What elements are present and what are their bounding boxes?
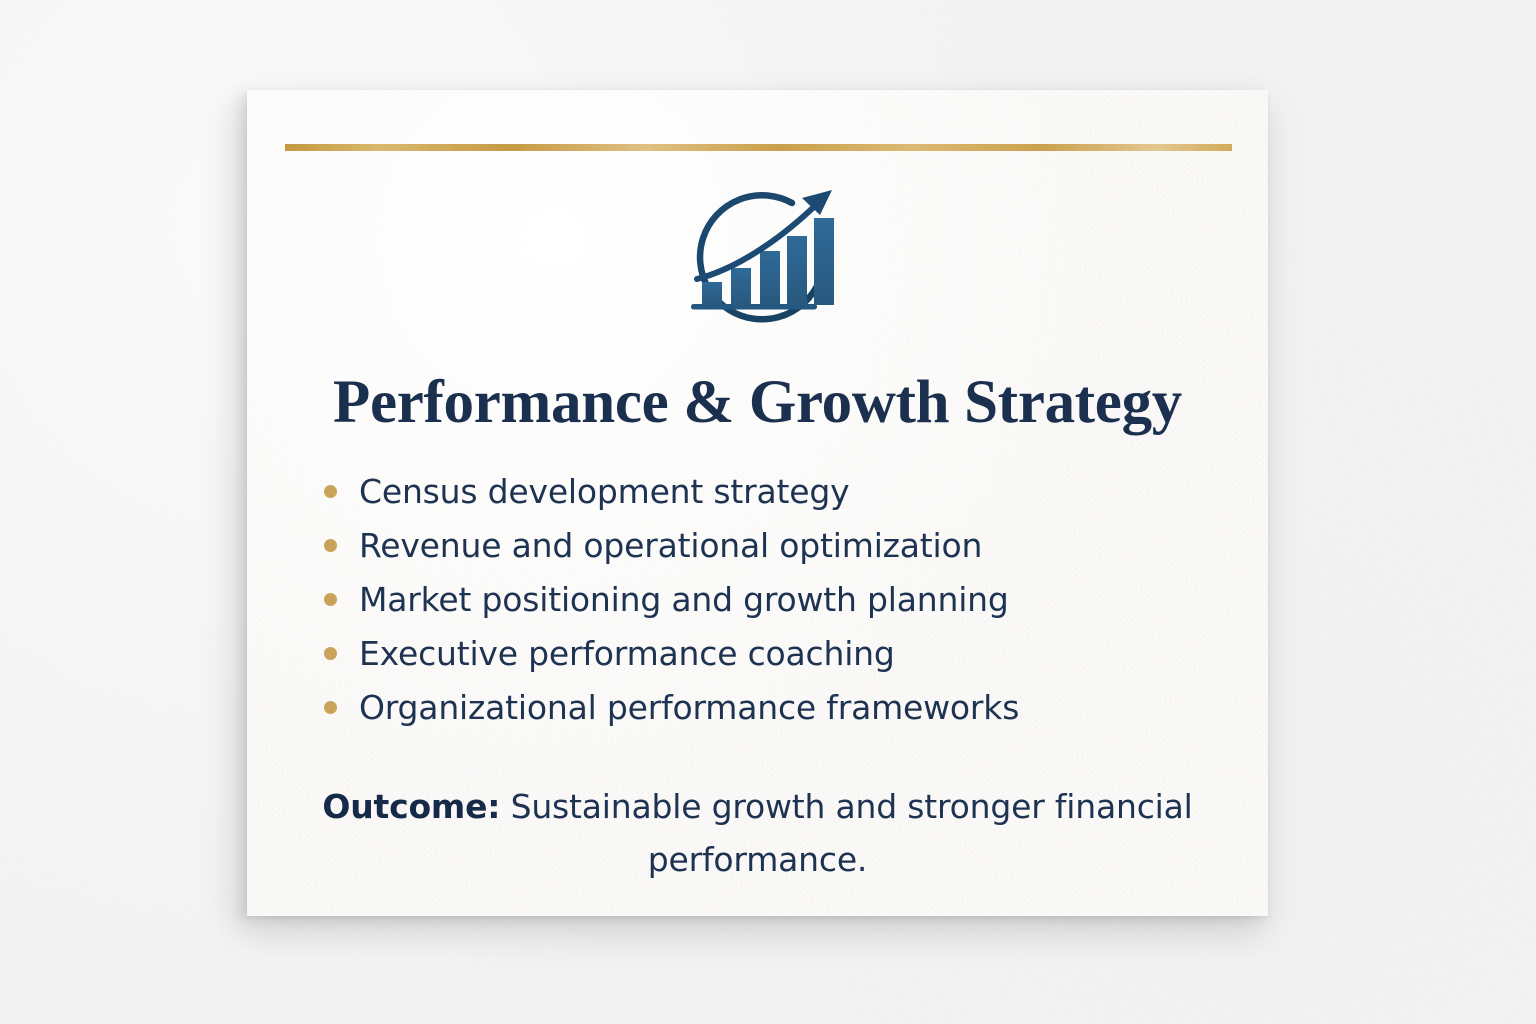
list-item-label: Revenue and operational optimization (359, 526, 982, 565)
presentation-card: Performance & Growth Strategy Census dev… (247, 90, 1268, 916)
bullet-dot-icon (324, 539, 337, 552)
list-item: Revenue and operational optimization (315, 518, 1215, 572)
outcome-label: Outcome: (322, 787, 500, 826)
list-item: Census development strategy (315, 464, 1215, 518)
page-title: Performance & Growth Strategy (247, 368, 1268, 438)
page-background: Performance & Growth Strategy Census dev… (0, 0, 1536, 1024)
bullet-dot-icon (324, 485, 337, 498)
list-item: Executive performance coaching (315, 626, 1215, 680)
list-item-label: Organizational performance frameworks (359, 688, 1019, 727)
bullet-dot-icon (324, 701, 337, 714)
outcome-statement: Outcome: Sustainable growth and stronger… (277, 780, 1238, 886)
bullet-dot-icon (324, 593, 337, 606)
outcome-text: Sustainable growth and stronger financia… (500, 787, 1192, 879)
list-item-label: Executive performance coaching (359, 634, 895, 673)
bullet-dot-icon (324, 647, 337, 660)
list-item: Organizational performance frameworks (315, 680, 1215, 734)
list-item-label: Census development strategy (359, 472, 849, 511)
growth-chart-icon (662, 168, 862, 358)
list-item-label: Market positioning and growth planning (359, 580, 1009, 619)
list-item: Market positioning and growth planning (315, 572, 1215, 626)
gold-divider-rule (285, 144, 1232, 151)
bullet-list: Census development strategy Revenue and … (315, 464, 1215, 734)
